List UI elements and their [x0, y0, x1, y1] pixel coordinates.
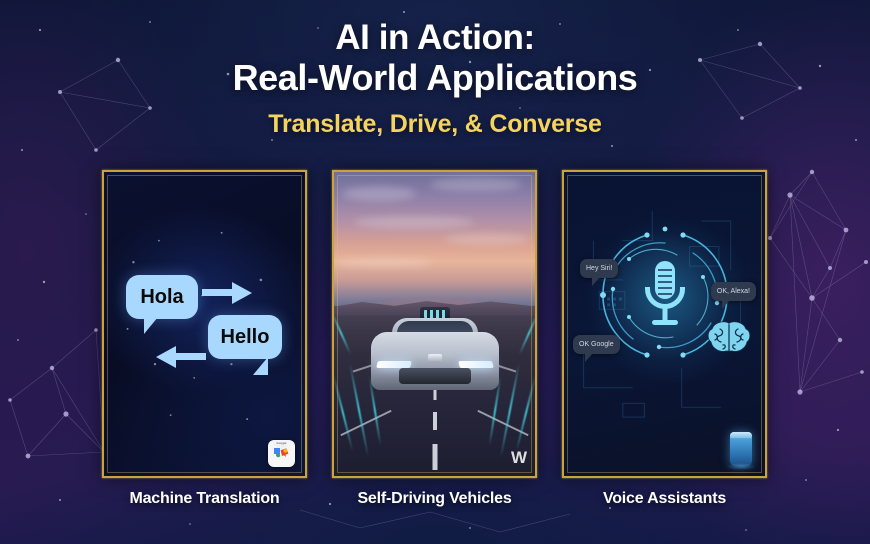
cloud	[342, 186, 416, 201]
cloud	[444, 234, 530, 244]
speech-bubble-hey-siri: Hey Siri!	[580, 259, 618, 278]
speaker-top	[730, 432, 752, 438]
page-subtitle: Translate, Drive, & Converse	[0, 110, 870, 139]
smart-speaker-icon	[730, 432, 752, 466]
brain-icon	[707, 320, 751, 354]
panel-row: Hola Hello	[0, 170, 870, 482]
car-body	[371, 332, 499, 390]
arrow-right-icon	[202, 280, 254, 311]
headlight-left	[376, 361, 412, 368]
cloud	[334, 258, 434, 267]
arrow-left-icon	[154, 344, 206, 375]
panel-voice-assistants[interactable]: Hey Siri! OK, Alexa! OK Google	[562, 170, 767, 478]
road-center-line	[432, 444, 437, 470]
speech-bubble-target: Hello	[208, 315, 282, 359]
cloud	[430, 178, 522, 191]
page-title-line-2: Real-World Applications	[0, 58, 870, 98]
translate-app-icon-label: Google	[187, 441, 307, 445]
watermark-logo: W	[511, 448, 526, 468]
speech-bubble-source: Hola	[126, 275, 198, 319]
caption-self-driving-vehicles: Self-Driving Vehicles	[332, 490, 537, 508]
panel-machine-translation[interactable]: Hola Hello	[102, 170, 307, 478]
panel-self-driving-vehicles[interactable]: W	[332, 170, 537, 478]
page-title-line-1: AI in Action:	[0, 18, 870, 58]
speech-bubble-ok-alexa: OK, Alexa!	[711, 282, 756, 301]
slide-header: AI in Action: Real-World Applications Tr…	[0, 18, 870, 139]
translate-app-icon[interactable]: Google	[268, 440, 295, 467]
speech-bubble-ok-google: OK Google	[573, 335, 620, 354]
autonomous-car	[371, 308, 499, 390]
microphone-icon	[638, 259, 692, 331]
headlight-right	[458, 361, 494, 368]
caption-voice-assistants: Voice Assistants	[562, 490, 767, 508]
caption-machine-translation: Machine Translation	[102, 490, 307, 508]
car-emblem	[428, 354, 442, 363]
cloud	[354, 216, 474, 228]
speaker-shadow	[726, 463, 756, 470]
caption-row: Machine Translation Self-Driving Vehicle…	[0, 490, 870, 520]
car-grille	[399, 368, 471, 384]
road-center-line	[433, 412, 437, 430]
slide-canvas: AI in Action: Real-World Applications Tr…	[0, 0, 870, 544]
